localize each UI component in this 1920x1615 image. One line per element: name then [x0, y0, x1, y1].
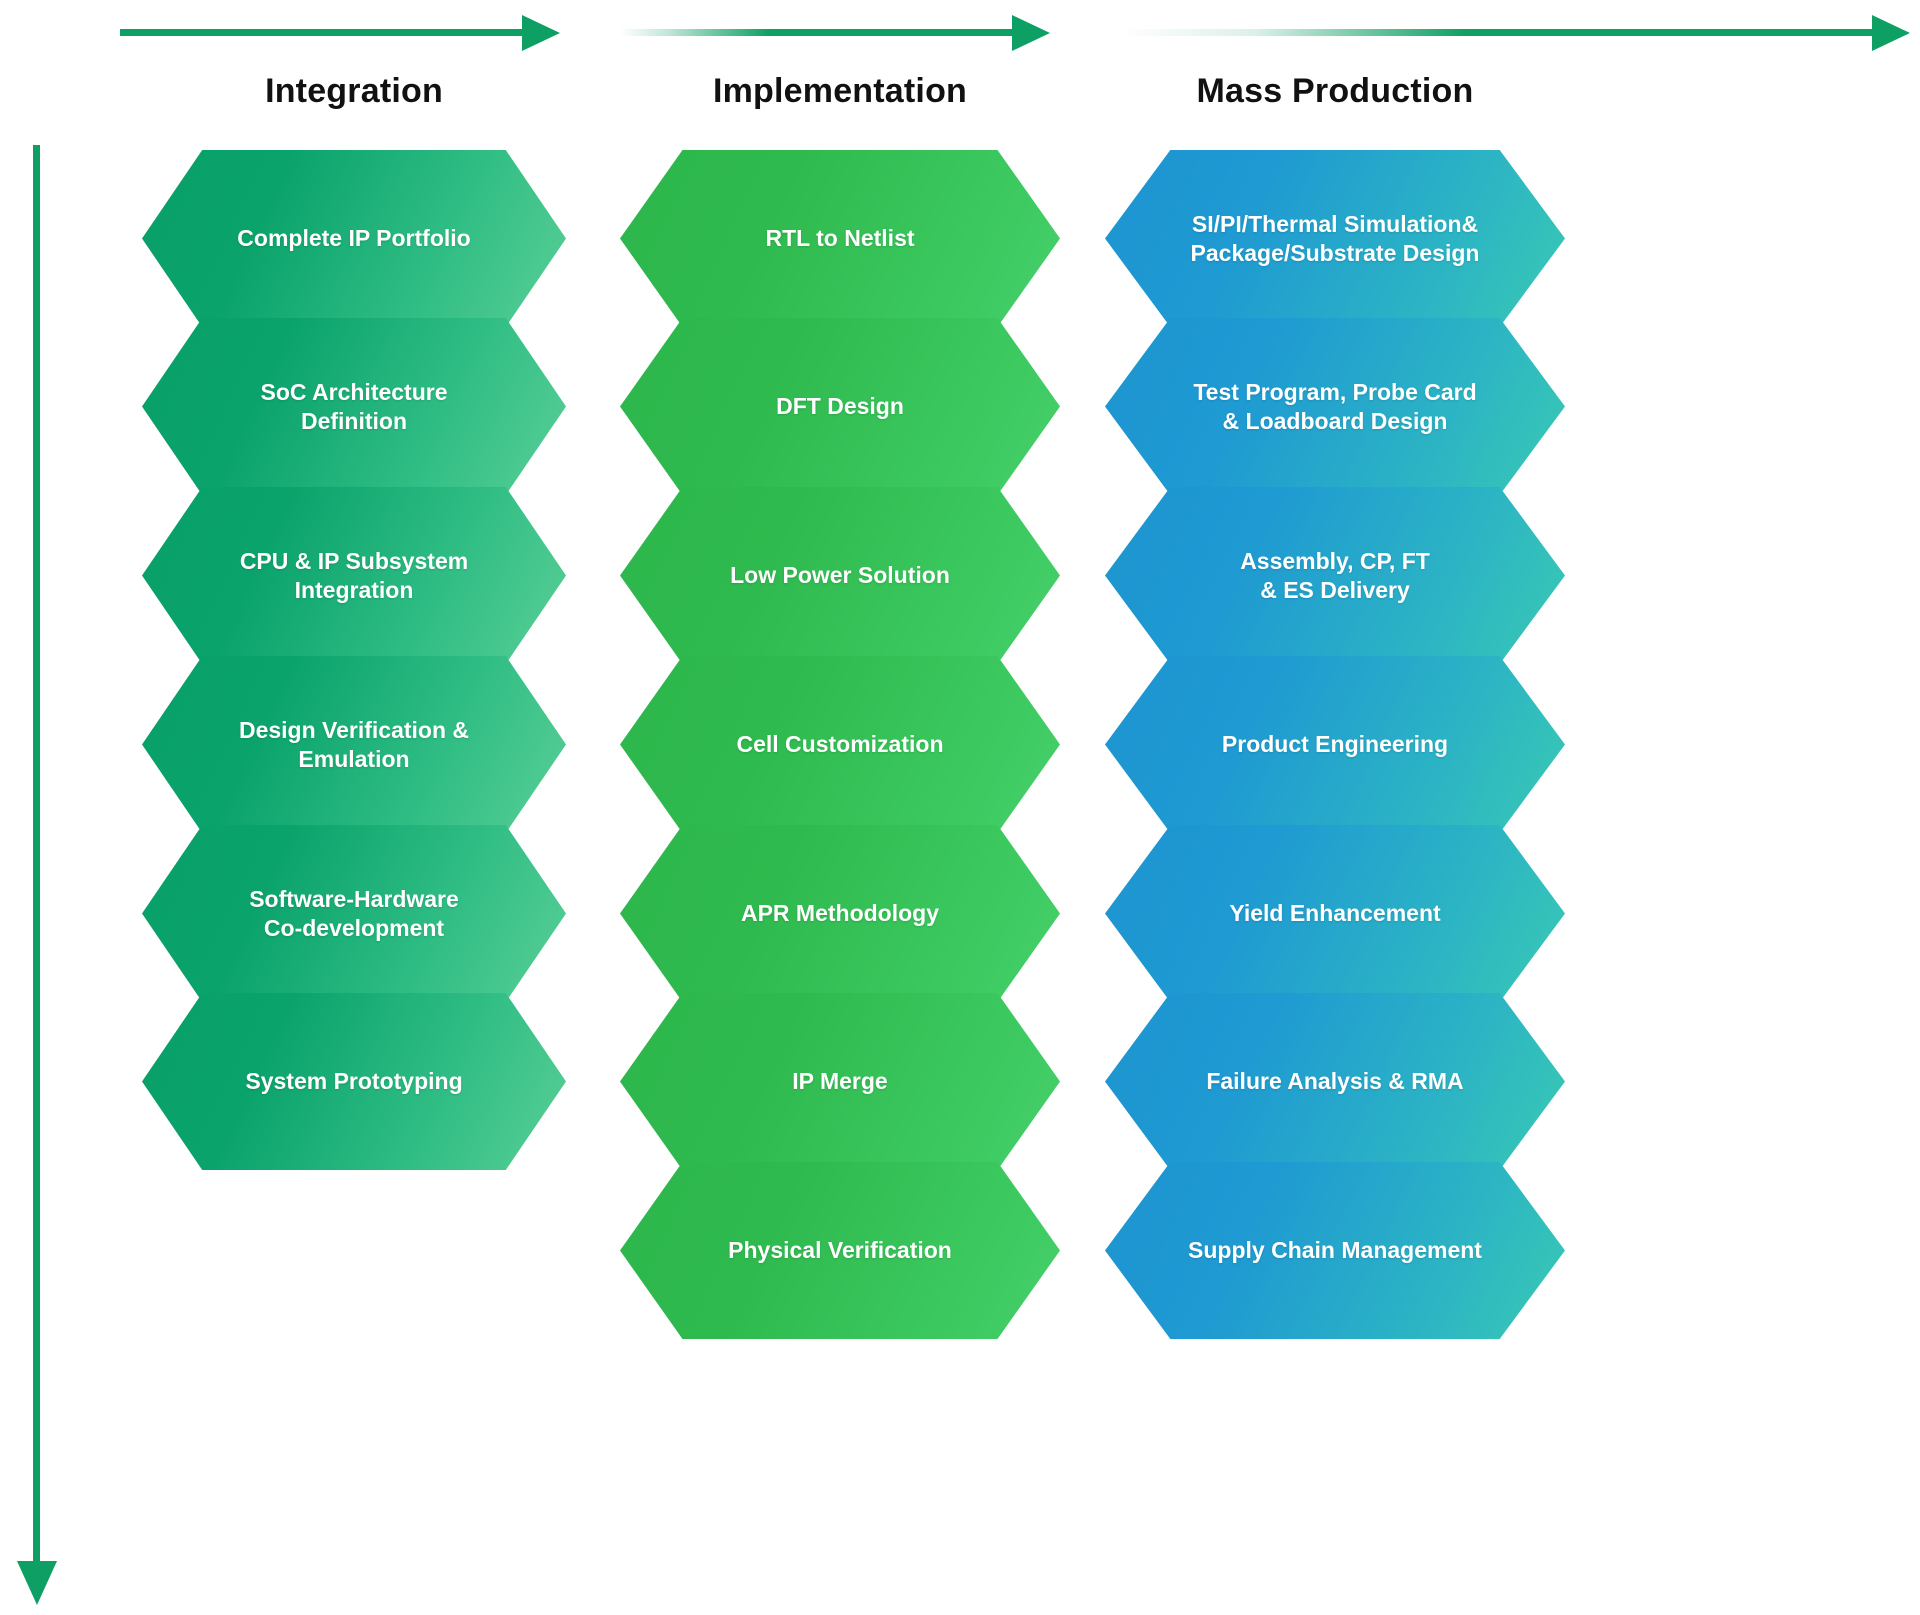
stage-node[interactable]: APR Methodology	[620, 825, 1060, 1002]
process-flow-diagram: Integration Implementation Mass Producti…	[0, 0, 1920, 1615]
stage-node[interactable]: RTL to Netlist	[620, 150, 1060, 327]
stage-node-label: DFT Design	[715, 392, 966, 420]
stage-node[interactable]: IP Merge	[620, 993, 1060, 1170]
stage-node-label: Failure Analysis & RMA	[1142, 1067, 1528, 1095]
flow-arrow-mass-production	[1120, 13, 1910, 53]
stage-node-label: Test Program, Probe Card & Loadboard Des…	[1129, 378, 1541, 434]
stage-node-label: SoC Architecture Definition	[201, 378, 507, 434]
stage-node-label: Cell Customization	[675, 730, 1005, 758]
arrow-shaft	[33, 145, 40, 1563]
column-header-implementation: Implementation	[620, 72, 1060, 111]
stage-node[interactable]: SI/PI/Thermal Simulation& Package/Substr…	[1105, 150, 1565, 327]
arrow-shaft	[1120, 29, 1874, 36]
stage-node[interactable]: DFT Design	[620, 318, 1060, 495]
stage-node[interactable]: Assembly, CP, FT & ES Delivery	[1105, 487, 1565, 664]
stage-node[interactable]: CPU & IP Subsystem Integration	[142, 487, 566, 664]
arrow-head-icon	[1012, 15, 1050, 51]
stage-node[interactable]: Yield Enhancement	[1105, 825, 1565, 1002]
flow-arrow-implementation	[620, 13, 1050, 53]
column-header-integration: Integration	[142, 72, 566, 111]
stage-node-label: APR Methodology	[679, 899, 1000, 927]
stage-node[interactable]: Software-Hardware Co-development	[142, 825, 566, 1002]
arrow-shaft	[620, 29, 1014, 36]
stage-node[interactable]: Design Verification & Emulation	[142, 656, 566, 833]
stage-node-label: Software-Hardware Co-development	[190, 885, 518, 941]
stage-node[interactable]: Product Engineering	[1105, 656, 1565, 833]
stage-node-label: RTL to Netlist	[704, 224, 976, 252]
stage-node-label: Supply Chain Management	[1124, 1236, 1547, 1264]
timeline-down-arrow	[22, 145, 52, 1605]
arrow-shaft	[120, 29, 524, 36]
stage-node[interactable]: Cell Customization	[620, 656, 1060, 833]
stage-node-label: Complete IP Portfolio	[178, 224, 530, 252]
stage-node[interactable]: System Prototyping	[142, 993, 566, 1170]
stage-node-label: System Prototyping	[186, 1067, 522, 1095]
arrow-head-icon	[17, 1561, 57, 1605]
stage-node-label: Yield Enhancement	[1165, 899, 1505, 927]
column-header-mass-production: Mass Production	[1105, 72, 1565, 111]
stage-node[interactable]: Physical Verification	[620, 1162, 1060, 1339]
stage-node-label: IP Merge	[731, 1067, 950, 1095]
stage-node-label: Product Engineering	[1158, 730, 1513, 758]
stage-node-label: CPU & IP Subsystem Integration	[180, 547, 527, 603]
stage-node-label: Assembly, CP, FT & ES Delivery	[1176, 547, 1494, 603]
stage-node[interactable]: Supply Chain Management	[1105, 1162, 1565, 1339]
stage-node-label: Physical Verification	[667, 1236, 1014, 1264]
stage-node[interactable]: Low Power Solution	[620, 487, 1060, 664]
stage-node[interactable]: Complete IP Portfolio	[142, 150, 566, 327]
stage-node-label: SI/PI/Thermal Simulation& Package/Substr…	[1126, 210, 1544, 266]
stage-node-label: Design Verification & Emulation	[180, 716, 529, 772]
stage-node[interactable]: Failure Analysis & RMA	[1105, 993, 1565, 1170]
stage-node-label: Low Power Solution	[669, 561, 1012, 589]
arrow-head-icon	[522, 15, 560, 51]
flow-arrow-integration	[120, 13, 560, 53]
stage-node[interactable]: Test Program, Probe Card & Loadboard Des…	[1105, 318, 1565, 495]
arrow-head-icon	[1872, 15, 1910, 51]
stage-node[interactable]: SoC Architecture Definition	[142, 318, 566, 495]
